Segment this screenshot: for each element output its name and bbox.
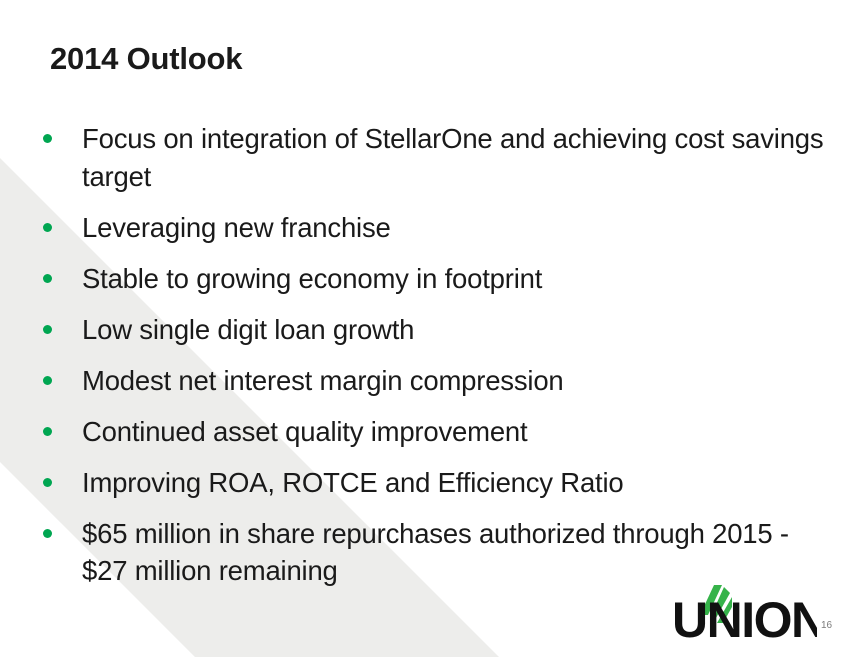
presentation-slide: 2014 Outlook Focus on integration of Ste…	[0, 0, 850, 657]
list-item-text: Focus on integration of StellarOne and a…	[82, 123, 823, 192]
bullet-dot-icon	[43, 223, 52, 232]
union-logo: UNION	[672, 585, 817, 641]
list-item-text: Continued asset quality improvement	[82, 416, 527, 447]
bullet-dot-icon	[43, 134, 52, 143]
logo-wordmark: UNION	[672, 592, 817, 641]
background-band-lower	[0, 640, 361, 657]
bullet-dot-icon	[43, 325, 52, 334]
list-item: Low single digit loan growth	[36, 311, 826, 349]
slide-title: 2014 Outlook	[50, 40, 242, 77]
list-item-text: Leveraging new franchise	[82, 212, 391, 243]
list-item-text: Modest net interest margin compression	[82, 365, 564, 396]
bullet-dot-icon	[43, 274, 52, 283]
list-item: Focus on integration of StellarOne and a…	[36, 120, 826, 196]
list-item-text: Improving ROA, ROTCE and Efficiency Rati…	[82, 467, 624, 498]
bullet-dot-icon	[43, 478, 52, 487]
list-item: Continued asset quality improvement	[36, 413, 826, 451]
list-item-text: Stable to growing economy in footprint	[82, 263, 542, 294]
bullet-list: Focus on integration of StellarOne and a…	[36, 120, 826, 590]
list-item: Improving ROA, ROTCE and Efficiency Rati…	[36, 464, 826, 502]
bullet-dot-icon	[43, 427, 52, 436]
background-mask-top-right	[430, 0, 850, 28]
list-item: Leveraging new franchise	[36, 209, 826, 247]
list-item-text: $65 million in share repurchases authori…	[82, 518, 789, 587]
page-number: 16	[821, 620, 832, 631]
list-item-text: Low single digit loan growth	[82, 314, 414, 345]
bullet-dot-icon	[43, 376, 52, 385]
bullet-dot-icon	[43, 529, 52, 538]
list-item: $65 million in share repurchases authori…	[36, 515, 826, 591]
list-item: Modest net interest margin compression	[36, 362, 826, 400]
list-item: Stable to growing economy in footprint	[36, 260, 826, 298]
